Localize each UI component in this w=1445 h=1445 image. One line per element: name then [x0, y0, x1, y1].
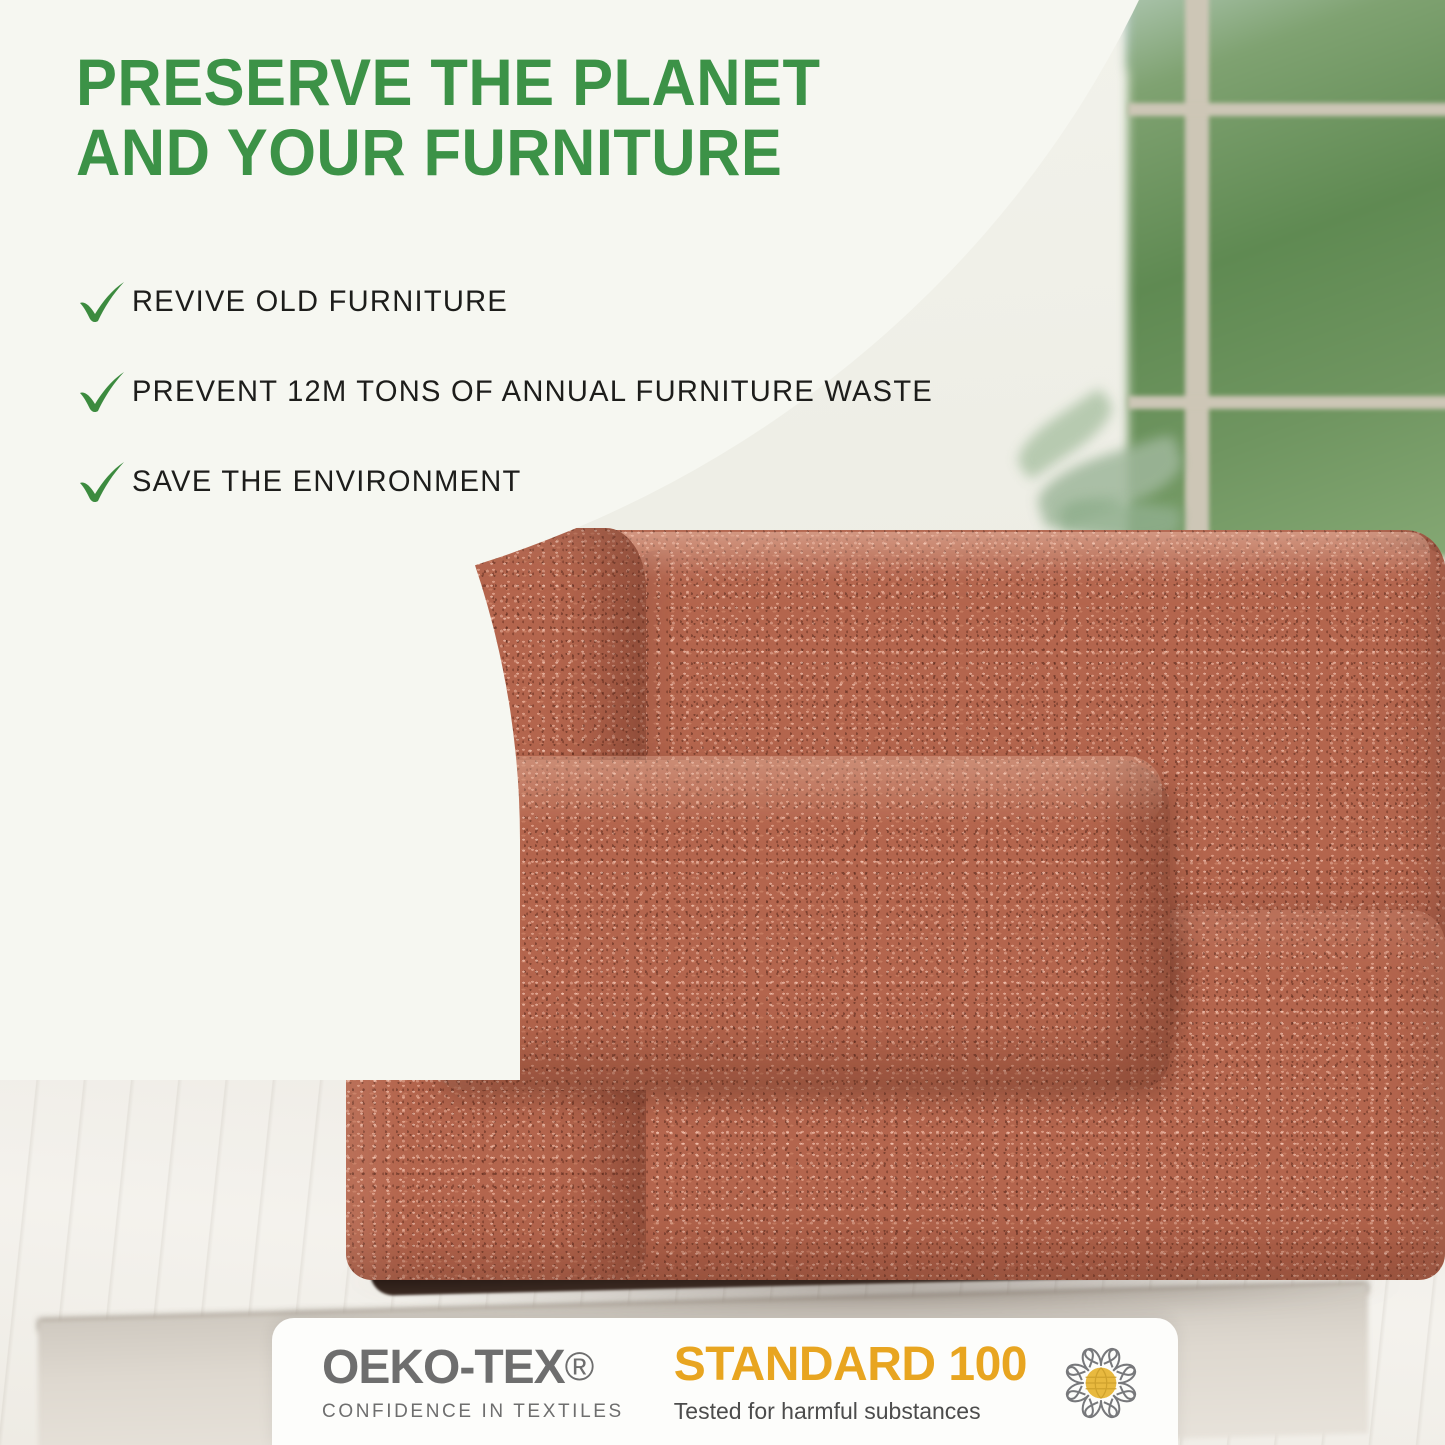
list-item-label: PREVENT 12M TONS OF ANNUAL FURNITURE WAS…: [132, 375, 933, 409]
page-title: PRESERVE THE PLANET AND YOUR FURNITURE: [76, 48, 987, 188]
oeko-tex-brand: OEKO-TEX®: [322, 1344, 624, 1392]
oeko-tex-brand-block: OEKO-TEX® CONFIDENCE IN TEXTILES: [272, 1344, 640, 1423]
oeko-tex-standard-block: STANDARD 100 Tested for harmful substanc…: [640, 1341, 1027, 1425]
list-item: PREVENT 12M TONS OF ANNUAL FURNITURE WAS…: [76, 352, 1156, 432]
standard-label: STANDARD 100: [674, 1341, 1027, 1389]
oeko-tex-tagline: CONFIDENCE IN TEXTILES: [322, 1401, 624, 1423]
window-mullion-bottom: [1128, 396, 1445, 409]
window-mullion-vertical: [1185, 0, 1209, 580]
list-item: SAVE THE ENVIRONMENT: [76, 442, 1156, 522]
sofa-armrest-bolster: [430, 760, 1170, 1090]
window-mullion-top: [1128, 103, 1445, 116]
oeko-tex-flower-globe-icon: [1053, 1335, 1149, 1431]
oeko-tex-certification-badge: OEKO-TEX® CONFIDENCE IN TEXTILES STANDAR…: [272, 1318, 1178, 1445]
oeko-tex-brand-text: OEKO-TEX: [322, 1341, 565, 1394]
room-photo: [0, 0, 1445, 1445]
promo-image-canvas: PRESERVE THE PLANET AND YOUR FURNITURE R…: [0, 0, 1445, 1445]
window-foliage: [1128, 0, 1445, 580]
list-item: REVIVE OLD FURNITURE: [76, 262, 1156, 342]
check-icon: [76, 459, 132, 505]
benefits-list: REVIVE OLD FURNITURE PREVENT 12M TONS OF…: [76, 262, 1156, 532]
registered-mark-icon: ®: [565, 1345, 593, 1389]
list-item-label: REVIVE OLD FURNITURE: [132, 285, 508, 319]
check-icon: [76, 279, 132, 325]
list-item-label: SAVE THE ENVIRONMENT: [132, 465, 522, 499]
check-icon: [76, 369, 132, 415]
standard-tagline: Tested for harmful substances: [674, 1398, 1027, 1425]
